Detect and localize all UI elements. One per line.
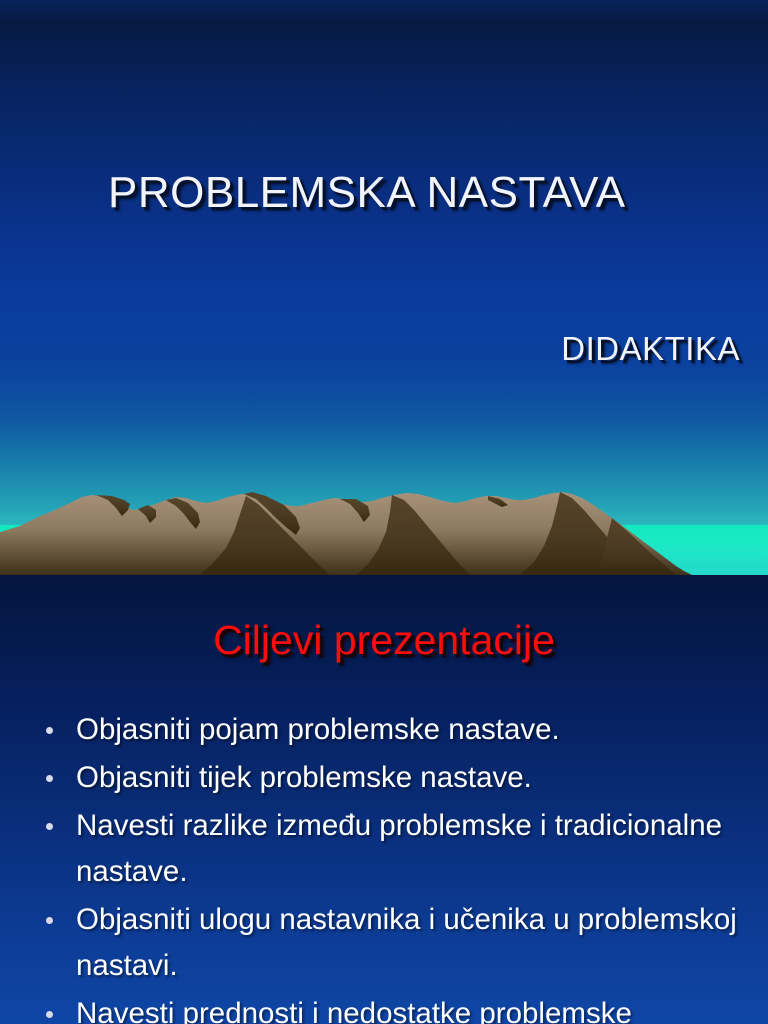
slide-title-section: PROBLEMSKA NASTAVA DIDAKTIKA (0, 0, 768, 575)
bullet-dot-icon (46, 775, 53, 782)
list-item: Objasniti ulogu nastavnika i učenika u p… (0, 897, 768, 989)
list-item: Navesti prednosti i nedostatke problemsk… (0, 991, 768, 1024)
list-item-label: Objasniti tijek problemske nastave. (76, 761, 532, 794)
slide-subtitle: DIDAKTIKA (561, 330, 740, 368)
presentation-slide: PROBLEMSKA NASTAVA DIDAKTIKA Ciljevi pre… (0, 0, 768, 1024)
bullet-dot-icon (46, 823, 53, 830)
slide-content-section: Ciljevi prezentacije Objasniti pojam pro… (0, 575, 768, 1024)
bullet-dot-icon (46, 727, 53, 734)
bullet-dot-icon (46, 1011, 53, 1018)
content-heading: Ciljevi prezentacije (0, 617, 768, 664)
list-item-label: Objasniti pojam problemske nastave. (76, 713, 560, 746)
mountain-range-icon (0, 470, 768, 575)
bullet-dot-icon (46, 917, 53, 924)
slide-title: PROBLEMSKA NASTAVA (108, 168, 626, 218)
list-item: Navesti razlike između problemske i trad… (0, 803, 768, 895)
objectives-bullet-list: Objasniti pojam problemske nastave. Obja… (0, 707, 768, 1024)
list-item: Objasniti tijek problemske nastave. (0, 755, 768, 801)
list-item-label: Navesti razlike između problemske i trad… (76, 809, 722, 888)
list-item-label: Navesti prednosti i nedostatke problemsk… (76, 997, 632, 1024)
list-item: Objasniti pojam problemske nastave. (0, 707, 768, 753)
list-item-label: Objasniti ulogu nastavnika i učenika u p… (76, 903, 737, 982)
